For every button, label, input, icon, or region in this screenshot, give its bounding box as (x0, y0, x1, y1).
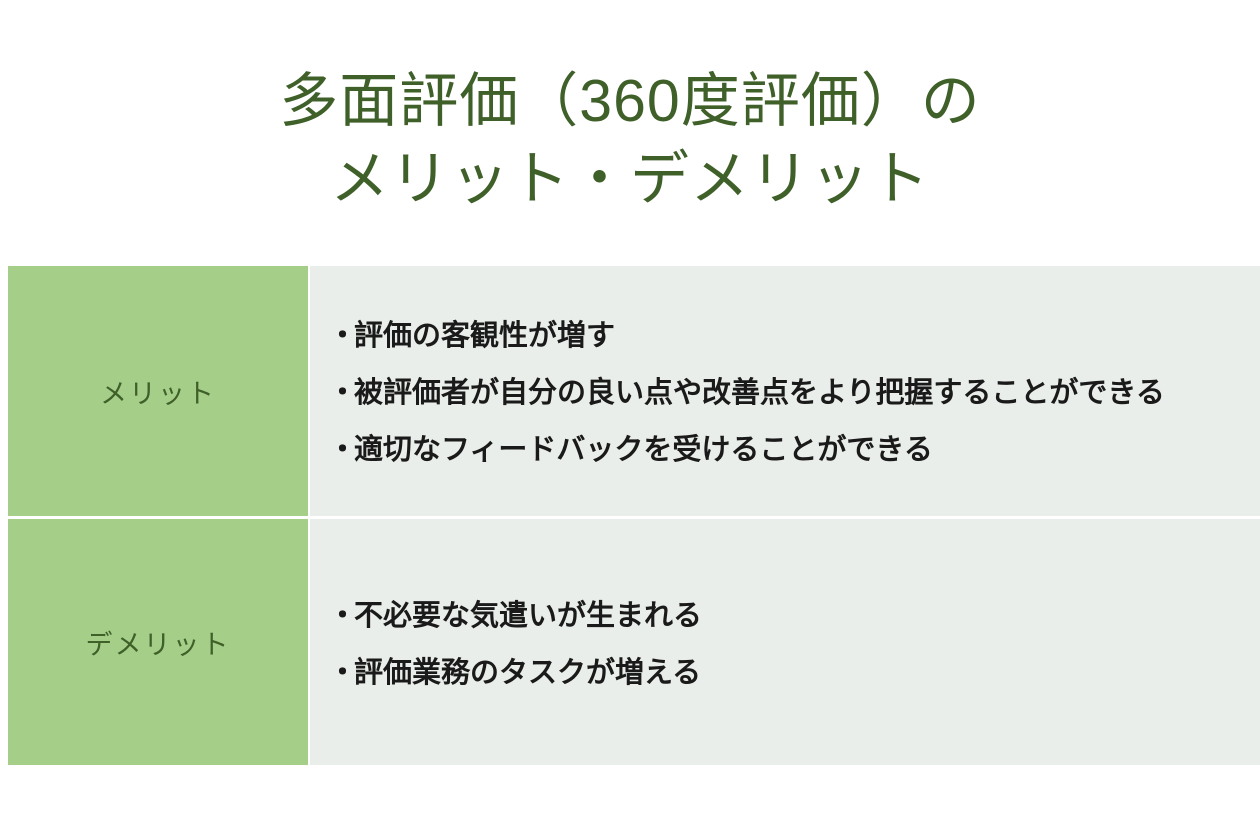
row-label-demerit-text: デメリット (86, 623, 231, 662)
page-title-line-1: 多面評価（360度評価）の (0, 62, 1260, 140)
list-item-text: 適切なフィードバックを受けることができる (354, 422, 933, 479)
bullet-icon: ・ (328, 365, 354, 422)
list-item-text: 被評価者が自分の良い点や改善点をより把握することができる (354, 365, 1165, 422)
slide-root: 多面評価（360度評価）の メリット・デメリット メリット ・ 評価の客観性が増… (0, 0, 1260, 840)
table-row-merit: メリット ・ 評価の客観性が増す ・ 被評価者が自分の良い点や改善点をより把握す… (0, 266, 1260, 516)
page-title: 多面評価（360度評価）の メリット・デメリット (0, 62, 1260, 218)
list-item: ・ 評価の客観性が増す (328, 308, 1246, 365)
list-item: ・ 被評価者が自分の良い点や改善点をより把握することができる (328, 365, 1246, 422)
bullet-icon: ・ (328, 422, 354, 479)
list-item: ・ 評価業務のタスクが増える (328, 645, 1246, 702)
row-content-merit: ・ 評価の客観性が増す ・ 被評価者が自分の良い点や改善点をより把握することがで… (310, 266, 1260, 516)
merit-bullet-list: ・ 評価の客観性が増す ・ 被評価者が自分の良い点や改善点をより把握することがで… (328, 308, 1246, 479)
merit-demerit-table: メリット ・ 評価の客観性が増す ・ 被評価者が自分の良い点や改善点をより把握す… (0, 266, 1260, 765)
list-item-text: 評価の客観性が増す (354, 308, 615, 365)
bullet-icon: ・ (328, 308, 354, 365)
page-title-line-2: メリット・デメリット (0, 140, 1260, 218)
row-label-demerit: デメリット (0, 519, 310, 765)
list-item-text: 評価業務のタスクが増える (354, 645, 701, 702)
bullet-icon: ・ (328, 588, 354, 645)
list-item-text: 不必要な気遣いが生まれる (354, 588, 702, 645)
demerit-bullet-list: ・ 不必要な気遣いが生まれる ・ 評価業務のタスクが増える (328, 588, 1246, 702)
row-label-merit-text: メリット (100, 372, 216, 411)
list-item: ・ 適切なフィードバックを受けることができる (328, 422, 1246, 479)
row-label-merit: メリット (0, 266, 310, 516)
bullet-icon: ・ (328, 645, 354, 702)
list-item: ・ 不必要な気遣いが生まれる (328, 588, 1246, 645)
table-row-demerit: デメリット ・ 不必要な気遣いが生まれる ・ 評価業務のタスクが増える (0, 516, 1260, 765)
row-content-demerit: ・ 不必要な気遣いが生まれる ・ 評価業務のタスクが増える (310, 519, 1260, 765)
